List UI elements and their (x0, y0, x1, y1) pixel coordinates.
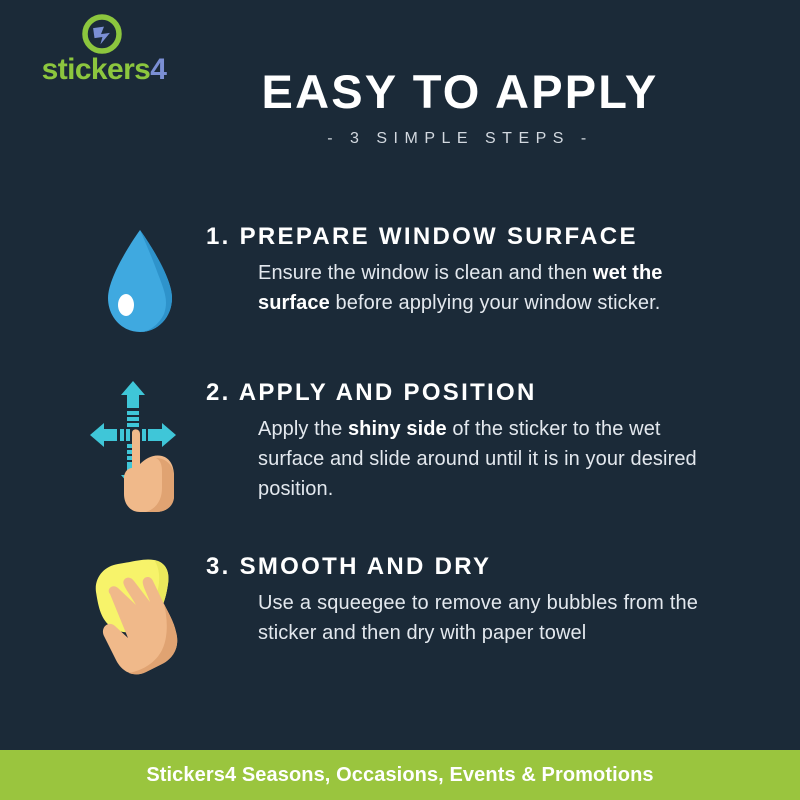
page-subtitle: - 3 SIMPLE STEPS - (180, 129, 740, 149)
step-3-body: 3. SMOOTH AND DRY Use a squeegee to remo… (206, 552, 736, 648)
logo-word-primary: stickers (42, 53, 151, 86)
footer-text: Stickers4 Seasons, Occasions, Events & P… (146, 764, 653, 787)
step-1: 1. PREPARE WINDOW SURFACE Ensure the win… (0, 222, 800, 362)
step-1-text: Ensure the window is clean and then wet … (258, 258, 698, 318)
step-1-text-after: before applying your window sticker. (330, 292, 661, 314)
logo-word-accent: 4 (150, 53, 166, 86)
step-3-heading: 3. SMOOTH AND DRY (206, 552, 736, 582)
page-title: EASY TO APPLY (180, 66, 740, 118)
step-2-heading: 2. APPLY AND POSITION (206, 378, 736, 408)
hand-with-squeegee-cloth-icon (88, 552, 193, 682)
step-1-heading: 1. PREPARE WINDOW SURFACE (206, 222, 736, 252)
step-3-text: Use a squeegee to remove any bubbles fro… (258, 588, 698, 648)
four-way-arrow-pointing-hand-icon (88, 378, 193, 508)
step-2-text-before: Apply the (258, 418, 348, 440)
step-3-text-after: Use a squeegee to remove any bubbles fro… (258, 592, 698, 644)
step-2-body: 2. APPLY AND POSITION Apply the shiny si… (206, 378, 736, 504)
step-1-text-before: Ensure the window is clean and then (258, 262, 593, 284)
step-1-body: 1. PREPARE WINDOW SURFACE Ensure the win… (206, 222, 736, 318)
stickers4-circle-logo-icon (82, 14, 122, 54)
step-3: 3. SMOOTH AND DRY Use a squeegee to remo… (0, 552, 800, 697)
step-2-text-bold: shiny side (348, 418, 447, 440)
brand-logo-wordmark: stickers4 (24, 54, 184, 86)
step-2: 2. APPLY AND POSITION Apply the shiny si… (0, 378, 800, 526)
step-2-text: Apply the shiny side of the sticker to t… (258, 414, 698, 504)
water-droplet-icon (88, 222, 193, 352)
footer-banner: Stickers4 Seasons, Occasions, Events & P… (0, 750, 800, 800)
brand-logo: stickers4 (24, 14, 184, 90)
infographic-poster: stickers4 EASY TO APPLY - 3 SIMPLE STEPS… (0, 0, 800, 800)
